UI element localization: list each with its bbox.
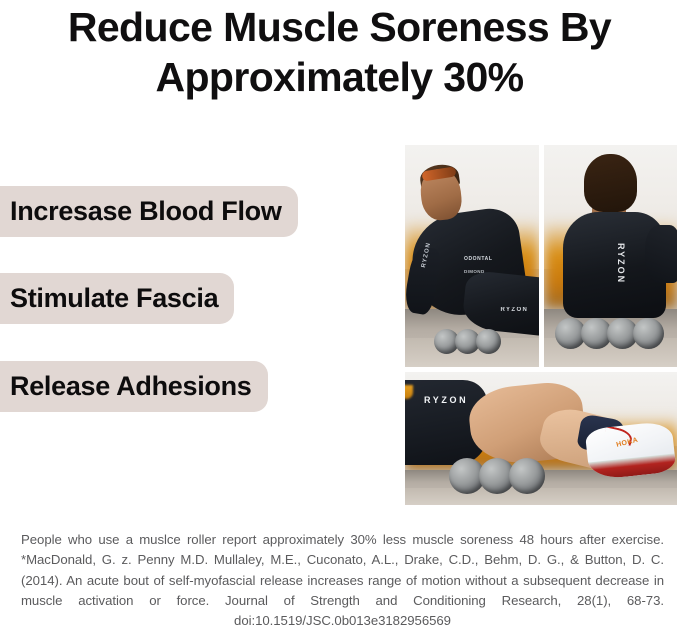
feature-list: Incresase Blood Flow Stimulate Fascia Re… — [0, 186, 395, 412]
photo-collage: ODONTAL DIMOND RYZON RYZON RYZON — [405, 145, 677, 505]
photo-athlete-back-roll: RYZON — [544, 145, 677, 367]
running-shoe: HOKA — [585, 421, 677, 480]
jersey-back-brand: RYZON — [616, 243, 626, 284]
photo-kerb — [405, 488, 677, 505]
feature-row-1: Incresase Blood Flow — [0, 186, 395, 237]
massage-roller-photo-2 — [555, 318, 659, 349]
photo-collage-bottom-row: RYZON HOKA — [405, 372, 677, 505]
jersey-logo-secondary: DIMOND — [464, 269, 485, 274]
page-title: Reduce Muscle Soreness By Approximately … — [0, 2, 679, 102]
shorts-brand-photo-1: RYZON — [501, 307, 529, 313]
feature-pill-stimulate-fascia: Stimulate Fascia — [0, 273, 234, 324]
athlete-shoulder — [645, 225, 677, 283]
photo-collage-top-row: ODONTAL DIMOND RYZON RYZON RYZON — [405, 145, 677, 367]
jersey-logo-primary: ODONTAL — [464, 256, 493, 262]
roller-ball — [509, 458, 545, 494]
feature-row-2: Stimulate Fascia — [0, 273, 395, 324]
shorts-brand-photo-3: RYZON — [424, 395, 468, 405]
massage-roller-photo-1 — [434, 329, 497, 354]
athlete-head-back — [584, 154, 637, 212]
feature-row-3: Release Adhesions — [0, 361, 395, 412]
feature-pill-release-adhesions: Release Adhesions — [0, 361, 268, 412]
photo-athlete-seated-on-roller: ODONTAL DIMOND RYZON RYZON — [405, 145, 539, 367]
shorts-accent — [405, 385, 413, 399]
page-title-line-1: Reduce Muscle Soreness By — [0, 2, 679, 52]
page-title-line-2: Approximately 30% — [0, 52, 679, 102]
feature-pill-increase-blood-flow: Incresase Blood Flow — [0, 186, 298, 237]
roller-ball — [633, 318, 664, 349]
footnote-citation: People who use a muslce roller report ap… — [21, 530, 664, 631]
photo-athlete-calf-roll: RYZON HOKA — [405, 372, 677, 505]
massage-roller-photo-3 — [449, 458, 539, 494]
roller-ball — [476, 329, 501, 354]
